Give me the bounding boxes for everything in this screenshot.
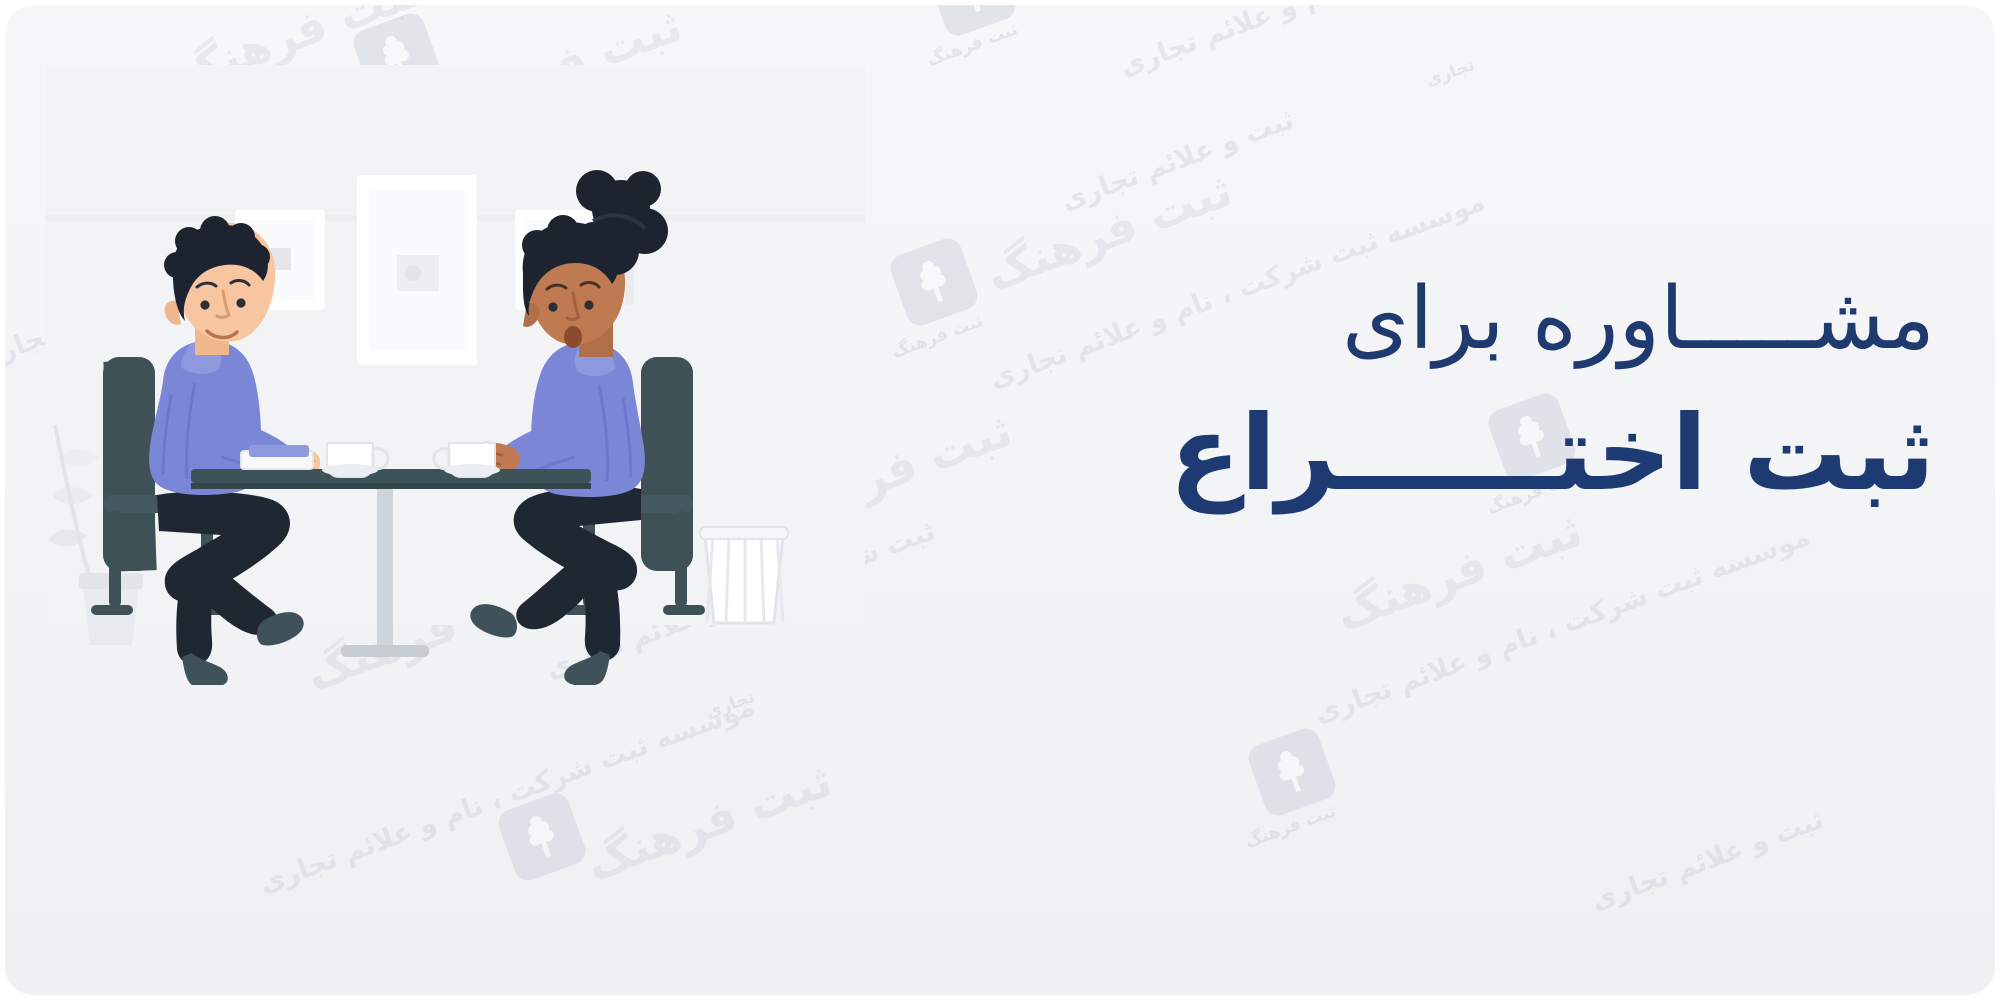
headline-line-1: مشـــــاوره برای	[1095, 273, 1935, 366]
waste-basket	[700, 527, 788, 623]
headline-line-2: ثبت اختــــــراع	[1095, 396, 1935, 510]
headline-block: مشـــــاوره برای ثبت اختــــــراع	[1095, 273, 1935, 510]
consultation-illustration	[45, 65, 865, 685]
papers-on-table	[241, 445, 313, 469]
wall-picture-frame-center	[357, 175, 477, 365]
promo-banner: ثبت فرهنگ ثبت فرهنگ ثبت فرهنگ ثبت فرهنگ …	[0, 0, 2000, 1000]
